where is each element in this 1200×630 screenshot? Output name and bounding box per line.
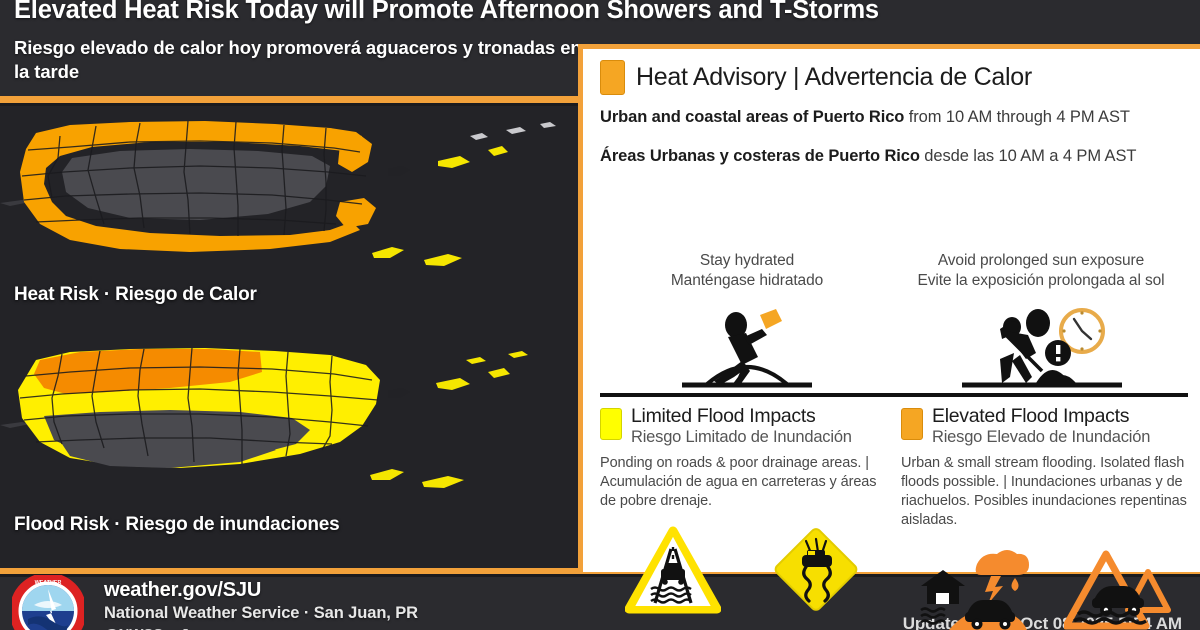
limited-flood-color-swatch — [600, 408, 622, 440]
flood-impacts: Limited Flood Impacts Riesgo Limitado de… — [600, 406, 1188, 630]
elevated-flood-header: Elevated Flood Impacts Riesgo Elevado de… — [901, 406, 1188, 448]
slippery-road-icon — [770, 525, 862, 615]
heat-advisory-area-en: Urban and coastal areas of Puerto Rico — [600, 108, 904, 126]
vehicle-flood-warning-icon — [1064, 548, 1174, 630]
limited-flood-header: Limited Flood Impacts Riesgo Limitado de… — [600, 406, 887, 448]
tip-label-en: Avoid prolonged sun exposure — [894, 251, 1188, 271]
flood-impact-limited: Limited Flood Impacts Riesgo Limitado de… — [600, 406, 887, 630]
safety-tips: Stay hydrated Manténgase hidratado — [600, 251, 1188, 389]
tip-label-en: Stay hydrated — [600, 251, 894, 271]
limited-flood-description: Ponding on roads & poor drainage areas. … — [600, 454, 887, 511]
limited-flood-title: Limited Flood Impacts — [631, 406, 852, 427]
elevated-flood-color-swatch — [901, 408, 923, 440]
page-subtitle-spanish: Riesgo elevado de calor hoy promoverá ag… — [14, 36, 594, 85]
heat-advisory-area-es: Áreas Urbanas y costeras de Puerto Rico — [600, 147, 920, 165]
tip-label-es: Manténgase hidratado — [600, 271, 894, 291]
card-accent-left — [578, 44, 583, 572]
infographic-root: Elevated Heat Risk Today will Promote Af… — [0, 0, 1200, 630]
heat-risk-map-label: Heat Risk · Riesgo de Calor — [14, 284, 257, 306]
nws-logo-icon: WEATHER — [12, 575, 84, 630]
section-divider — [600, 393, 1188, 397]
card-accent-top — [578, 44, 1200, 49]
header-accent-shadow — [0, 103, 600, 106]
person-drinking-icon — [600, 297, 894, 389]
heat-advisory-header: Heat Advisory | Advertencia de Calor — [600, 60, 1188, 95]
elevated-flood-description: Urban & small stream flooding. Isolated … — [901, 454, 1188, 531]
heat-advisory-title: Heat Advisory | Advertencia de Calor — [636, 63, 1032, 92]
heat-advisory-time-es: desde las 10 AM a 4 PM AST — [920, 147, 1137, 165]
elevated-flood-icons — [901, 538, 1188, 630]
elevated-flood-subtitle: Riesgo Elevado de Inundación — [932, 427, 1150, 448]
footer-office-name: National Weather Service · San Juan, PR — [104, 604, 418, 623]
flood-risk-map-label: Flood Risk · Riesgo de inundaciones — [14, 514, 340, 536]
elevated-flood-title: Elevated Flood Impacts — [932, 406, 1150, 427]
heat-advisory-text-en: Urban and coastal areas of Puerto Rico f… — [600, 106, 1172, 128]
tip-label-es: Evite la exposición prolongada al sol — [894, 271, 1188, 291]
heat-advisory-time-en: from 10 AM through 4 PM AST — [904, 108, 1130, 126]
safety-tip-avoid-sun: Avoid prolonged sun exposure Evite la ex… — [894, 251, 1188, 389]
footer-website-url[interactable]: weather.gov/SJU — [104, 579, 261, 602]
flood-impact-elevated: Elevated Flood Impacts Riesgo Elevado de… — [901, 406, 1188, 630]
svg-text:WEATHER: WEATHER — [35, 580, 62, 586]
map-panel: Heat Risk · Riesgo de Calor — [0, 106, 600, 568]
house-storm-flood-icon — [915, 548, 1035, 630]
flooded-road-warning-icon — [625, 525, 721, 615]
heat-advisory-text-es: Áreas Urbanas y costeras de Puerto Rico … — [600, 145, 1172, 167]
worker-sun-clock-icon — [894, 297, 1188, 389]
footer-social-handle[interactable]: @NWSSanJuan — [104, 626, 215, 630]
heat-advisory-color-swatch — [600, 60, 625, 95]
header-accent-bar — [0, 96, 600, 103]
page-title: Elevated Heat Risk Today will Promote Af… — [14, 0, 879, 25]
limited-flood-icons — [600, 519, 887, 615]
advisory-section: Heat Advisory | Advertencia de Calor Urb… — [600, 60, 1188, 168]
advisory-card: Heat Advisory | Advertencia de Calor Urb… — [578, 44, 1200, 572]
safety-tip-stay-hydrated: Stay hydrated Manténgase hidratado — [600, 251, 894, 389]
limited-flood-subtitle: Riesgo Limitado de Inundación — [631, 427, 852, 448]
